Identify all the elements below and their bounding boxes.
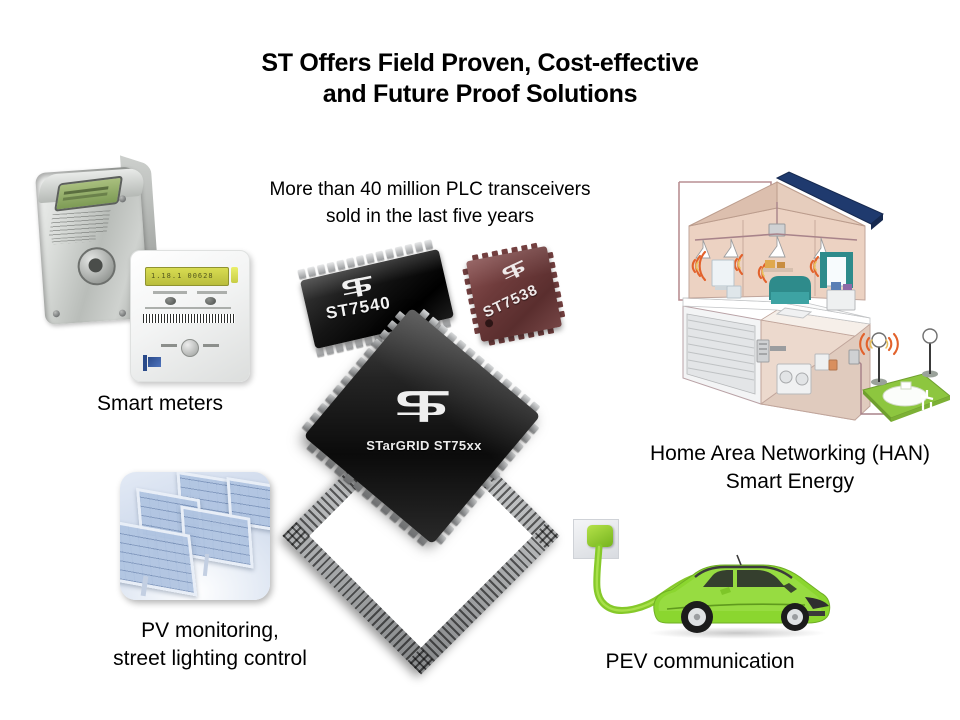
- caption-pv: PV monitoring, street lighting control: [30, 617, 390, 673]
- subtitle-text: More than 40 million PLC transceivers so…: [230, 176, 630, 230]
- meter-white-lcd-value: 1.18.1 00628: [151, 272, 214, 280]
- caption-han: Home Area Networking (HAN) Smart Energy: [620, 440, 960, 496]
- caption-han-line-2: Smart Energy: [620, 468, 960, 496]
- pev-charging-image: [565, 515, 840, 650]
- title-line-1: ST Offers Field Proven, Cost-effective: [0, 48, 960, 79]
- caption-han-line-1: Home Area Networking (HAN): [620, 440, 960, 468]
- caption-smart-meters: Smart meters: [20, 390, 300, 418]
- smart-meters-image: 1.18.1 00628: [30, 155, 250, 390]
- caption-pv-line-1: PV monitoring,: [30, 617, 390, 645]
- electricity-meter-white-icon: 1.18.1 00628: [130, 250, 250, 382]
- caption-pv-line-2: street lighting control: [30, 645, 390, 673]
- caption-pev: PEV communication: [520, 648, 880, 676]
- page-title: ST Offers Field Proven, Cost-effective a…: [0, 48, 960, 110]
- title-line-2: and Future Proof Solutions: [0, 79, 960, 110]
- home-area-network-image: [665, 168, 950, 430]
- pv-panels-image: [120, 472, 270, 600]
- house-cutaway-illustration: [665, 168, 950, 430]
- st-logo-icon: [394, 390, 452, 423]
- chip-stargrid-st75xx: STarGRID ST75xx: [304, 308, 541, 545]
- chip-st7538: ST7538: [460, 240, 568, 348]
- subtitle-line-2: sold in the last five years: [230, 203, 630, 230]
- electric-car-icon: [645, 553, 835, 635]
- meter-white-lcd: 1.18.1 00628: [145, 267, 229, 286]
- subtitle-line-1: More than 40 million PLC transceivers: [230, 176, 630, 203]
- plc-transceiver-chips-image: ST7540 ST7538 STarGRID ST75xx: [290, 240, 590, 580]
- chip-stargrid-label: STarGRID ST75xx: [344, 438, 504, 453]
- caption-pev-line-1: PEV communication: [520, 648, 880, 676]
- caption-smart-meters-line-1: Smart meters: [20, 390, 300, 418]
